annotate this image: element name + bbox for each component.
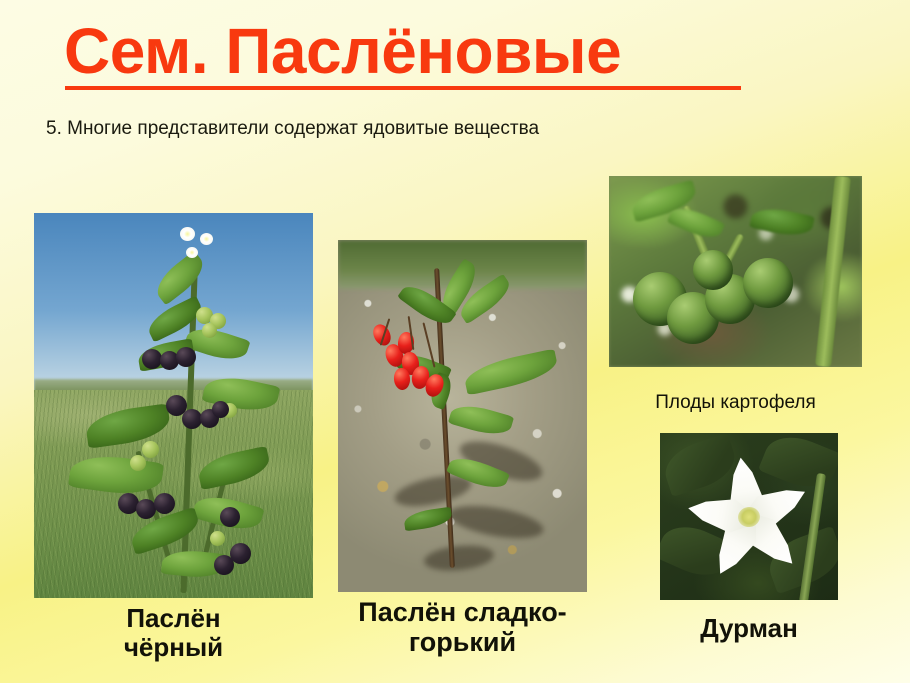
ripe-berry: [136, 499, 156, 519]
plant-flower: [186, 247, 198, 258]
datura-flower: [683, 451, 814, 582]
caption-potato-fruits: Плоды картофеля: [609, 392, 862, 414]
title-underline: [65, 86, 741, 90]
caption-line-1: Паслён сладко-: [330, 597, 595, 627]
plant-flower: [180, 227, 195, 241]
plant-flower: [200, 233, 213, 245]
photo-datura: [660, 433, 838, 600]
caption-line-1: Паслён: [34, 604, 313, 633]
page-title: Сем. Паслёновые: [64, 18, 621, 85]
potato-fruit: [693, 250, 733, 290]
subtitle-text: 5. Многие представители содержат ядовиты…: [46, 118, 539, 140]
ripe-berry: [212, 401, 229, 418]
unripe-berry: [210, 531, 225, 546]
photo-nightshade-bitter: [338, 240, 587, 592]
photo-potato-fruits: [609, 176, 862, 367]
photo-nightshade-black: [34, 213, 313, 598]
ripe-berry: [214, 555, 234, 575]
ripe-berry: [182, 409, 202, 429]
caption-line-2: чёрный: [34, 633, 313, 662]
slide: Сем. Паслёновые 5. Многие представители …: [0, 0, 910, 683]
unripe-berry: [130, 455, 146, 471]
potato-fruit: [743, 258, 793, 308]
ripe-berry: [220, 507, 240, 527]
caption-nightshade-black: Паслён чёрный: [34, 604, 313, 662]
ripe-berry: [176, 347, 196, 367]
unripe-berry: [202, 323, 217, 338]
caption-line-2: горький: [330, 627, 595, 657]
caption-nightshade-bitter: Паслён сладко- горький: [330, 597, 595, 657]
ripe-berry: [142, 349, 162, 369]
unripe-berry: [142, 441, 159, 458]
ripe-berry: [154, 493, 175, 514]
caption-datura: Дурман: [652, 614, 846, 643]
